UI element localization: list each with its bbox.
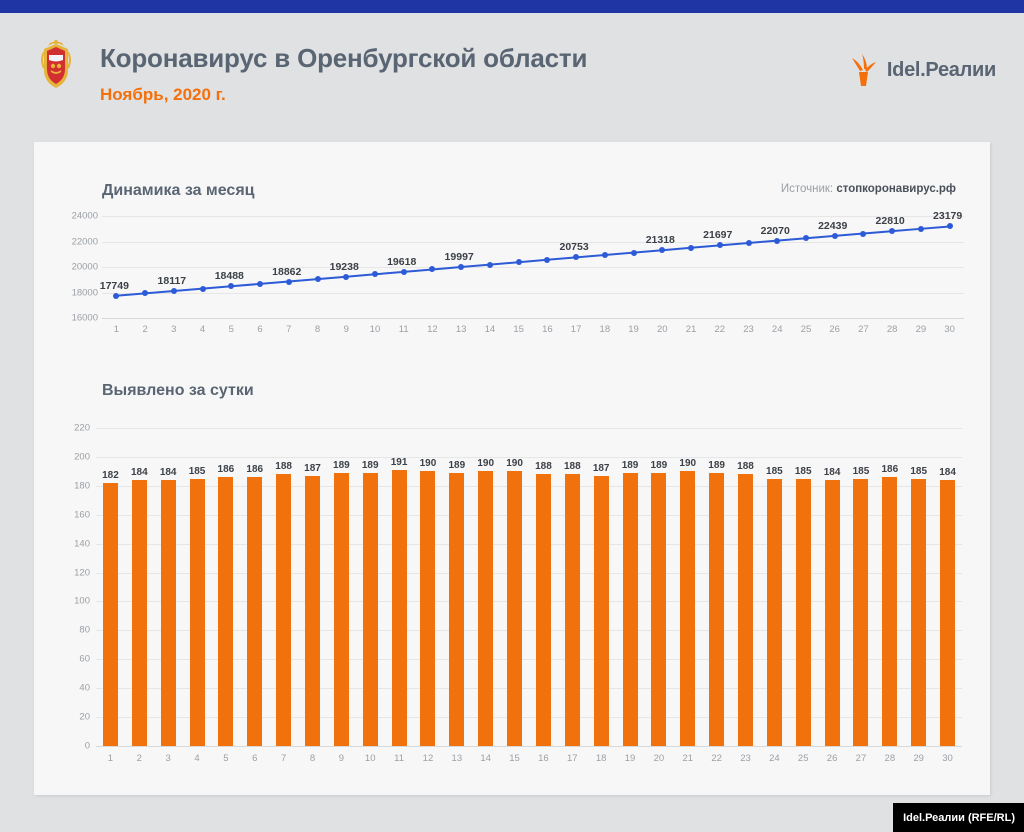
daily-cases-bar-chart: 0204060801001201401601802002201821184218… xyxy=(56,410,972,772)
bar-column xyxy=(190,479,205,746)
bar-y-tick: 180 xyxy=(56,480,90,491)
bar-value-label: 185 xyxy=(189,466,206,477)
infographic-page: Коронавирус в Оренбургской области Ноябр… xyxy=(0,0,1024,832)
bar-x-tick: 14 xyxy=(473,753,499,764)
bar-x-tick: 4 xyxy=(184,753,210,764)
bar-value-label: 185 xyxy=(910,466,927,477)
line-x-tick: 14 xyxy=(477,324,503,335)
bar-y-tick: 200 xyxy=(56,451,90,462)
bar-column xyxy=(363,473,378,746)
line-data-point xyxy=(257,281,263,287)
line-x-tick: 24 xyxy=(764,324,790,335)
bar-column xyxy=(449,473,464,746)
line-x-tick: 16 xyxy=(534,324,560,335)
source-note: Источник: стопкоронавирус.рф xyxy=(781,183,956,195)
bar-column xyxy=(767,479,782,746)
line-x-tick: 18 xyxy=(592,324,618,335)
bar-column xyxy=(594,476,609,746)
line-data-point xyxy=(343,274,349,280)
line-x-tick: 23 xyxy=(736,324,762,335)
line-data-point xyxy=(860,231,866,237)
watermark-badge: Idel.Реалии (RFE/RL) xyxy=(893,803,1024,832)
bar-value-label: 188 xyxy=(535,461,552,472)
bar-x-tick: 17 xyxy=(559,753,585,764)
line-x-tick: 27 xyxy=(850,324,876,335)
bar-value-label: 190 xyxy=(420,458,437,469)
bar-y-tick: 80 xyxy=(56,625,90,636)
bar-column xyxy=(478,471,493,746)
bar-x-tick: 23 xyxy=(733,753,759,764)
bar-x-tick: 28 xyxy=(877,753,903,764)
line-data-point xyxy=(458,264,464,270)
line-x-tick: 7 xyxy=(276,324,302,335)
bar-x-tick: 21 xyxy=(675,753,701,764)
bar-value-label: 184 xyxy=(131,467,148,478)
bar-column xyxy=(305,476,320,746)
bar-x-tick: 25 xyxy=(790,753,816,764)
line-data-point xyxy=(401,269,407,275)
bar-x-tick: 12 xyxy=(415,753,441,764)
bar-x-tick: 30 xyxy=(935,753,961,764)
bar-y-tick: 140 xyxy=(56,538,90,549)
bar-column xyxy=(738,474,753,746)
line-chart-title: Динамика за месяц xyxy=(102,182,255,200)
bar-column xyxy=(392,470,407,746)
line-x-tick: 8 xyxy=(305,324,331,335)
bar-x-tick: 26 xyxy=(819,753,845,764)
bar-value-label: 188 xyxy=(275,461,292,472)
bar-y-tick: 160 xyxy=(56,509,90,520)
line-data-point xyxy=(717,242,723,248)
bar-y-tick: 60 xyxy=(56,654,90,665)
charts-card: Динамика за месяц Источник: стопкоронави… xyxy=(34,142,990,795)
bar-value-label: 189 xyxy=(362,460,379,471)
bar-y-tick: 220 xyxy=(56,423,90,434)
line-data-point xyxy=(889,228,895,234)
line-point-label: 22439 xyxy=(818,220,847,232)
bar-value-label: 189 xyxy=(651,460,668,471)
bar-x-tick: 10 xyxy=(357,753,383,764)
bar-y-tick: 100 xyxy=(56,596,90,607)
bar-value-label: 187 xyxy=(304,463,321,474)
bar-column xyxy=(276,474,291,746)
bar-x-tick: 15 xyxy=(502,753,528,764)
bar-y-tick: 0 xyxy=(56,741,90,752)
bar-column xyxy=(103,483,118,746)
bar-x-tick: 29 xyxy=(906,753,932,764)
line-data-point xyxy=(228,283,234,289)
bar-x-tick: 2 xyxy=(126,753,152,764)
line-x-tick: 20 xyxy=(649,324,675,335)
line-x-tick: 13 xyxy=(448,324,474,335)
bar-value-label: 185 xyxy=(795,466,812,477)
source-value: стопкоронавирус.рф xyxy=(836,183,956,195)
bar-value-label: 184 xyxy=(160,467,177,478)
bar-x-tick: 16 xyxy=(530,753,556,764)
bar-value-label: 189 xyxy=(622,460,639,471)
line-point-label: 19618 xyxy=(387,256,416,268)
line-point-label: 18862 xyxy=(272,266,301,278)
bar-x-tick: 6 xyxy=(242,753,268,764)
bar-column xyxy=(247,477,262,746)
bar-x-tick: 18 xyxy=(588,753,614,764)
top-accent-strip xyxy=(0,0,1024,13)
orenburg-coat-of-arms-icon xyxy=(32,38,80,94)
page-header: Коронавирус в Оренбургской области Ноябр… xyxy=(0,13,1024,131)
line-x-tick: 28 xyxy=(879,324,905,335)
bar-x-tick: 11 xyxy=(386,753,412,764)
line-x-tick: 12 xyxy=(419,324,445,335)
line-data-point xyxy=(832,233,838,239)
line-x-tick: 26 xyxy=(822,324,848,335)
bar-y-tick: 20 xyxy=(56,712,90,723)
bar-y-tick: 120 xyxy=(56,567,90,578)
bar-x-axis xyxy=(96,746,962,747)
bar-value-label: 189 xyxy=(448,460,465,471)
line-x-tick: 9 xyxy=(333,324,359,335)
bar-value-label: 186 xyxy=(218,464,235,475)
bar-value-label: 185 xyxy=(853,466,870,477)
line-data-point xyxy=(659,247,665,253)
line-data-point xyxy=(918,226,924,232)
line-x-tick: 1 xyxy=(103,324,129,335)
line-data-point xyxy=(803,235,809,241)
bar-y-tick: 40 xyxy=(56,683,90,694)
bar-x-tick: 19 xyxy=(617,753,643,764)
line-point-label: 18117 xyxy=(158,275,187,287)
line-data-point xyxy=(631,250,637,256)
page-title: Коронавирус в Оренбургской области xyxy=(100,43,587,74)
bar-column xyxy=(796,479,811,746)
line-x-tick: 25 xyxy=(793,324,819,335)
line-data-point xyxy=(429,266,435,272)
bar-value-label: 185 xyxy=(766,466,783,477)
bar-x-tick: 5 xyxy=(213,753,239,764)
line-point-label: 19997 xyxy=(445,251,474,263)
line-x-tick: 5 xyxy=(218,324,244,335)
line-point-label: 18488 xyxy=(215,270,244,282)
bar-x-tick: 7 xyxy=(271,753,297,764)
bar-column xyxy=(680,471,695,746)
line-x-tick: 19 xyxy=(621,324,647,335)
bar-x-tick: 20 xyxy=(646,753,672,764)
bar-gridline xyxy=(96,457,962,458)
bar-value-label: 188 xyxy=(564,461,581,472)
bar-value-label: 188 xyxy=(737,461,754,472)
bar-value-label: 187 xyxy=(593,463,610,474)
line-data-point xyxy=(372,271,378,277)
bar-column xyxy=(940,480,955,746)
bar-x-tick: 13 xyxy=(444,753,470,764)
line-data-point xyxy=(113,293,119,299)
line-data-point xyxy=(200,286,206,292)
bar-column xyxy=(218,477,233,746)
line-data-point xyxy=(487,262,493,268)
bar-value-label: 190 xyxy=(679,458,696,469)
line-data-point xyxy=(142,290,148,296)
line-x-tick: 29 xyxy=(908,324,934,335)
line-point-label: 20753 xyxy=(559,241,588,253)
bar-value-label: 182 xyxy=(102,470,119,481)
bar-column xyxy=(709,473,724,746)
bar-column xyxy=(132,480,147,746)
bar-x-tick: 27 xyxy=(848,753,874,764)
bar-column xyxy=(911,479,926,746)
bar-value-label: 190 xyxy=(506,458,523,469)
bar-chart-title: Выявлено за сутки xyxy=(102,382,254,400)
bar-value-label: 191 xyxy=(391,457,408,468)
line-data-point xyxy=(573,254,579,260)
bar-value-label: 189 xyxy=(708,460,725,471)
line-data-point xyxy=(947,223,953,229)
bar-x-tick: 8 xyxy=(300,753,326,764)
line-data-point xyxy=(516,259,522,265)
line-data-point xyxy=(286,279,292,285)
line-x-tick: 30 xyxy=(937,324,963,335)
line-x-tick: 4 xyxy=(190,324,216,335)
bar-x-tick: 1 xyxy=(97,753,123,764)
bar-x-tick: 9 xyxy=(328,753,354,764)
bar-column xyxy=(420,471,435,746)
watermark-text: Idel.Реалии (RFE/RL) xyxy=(903,812,1015,824)
line-x-tick: 3 xyxy=(161,324,187,335)
brand-logo: Idel.Реалии xyxy=(848,53,996,87)
line-data-point xyxy=(171,288,177,294)
bar-gridline xyxy=(96,428,962,429)
brand-name: Idel.Реалии xyxy=(887,59,996,82)
bar-column xyxy=(565,474,580,746)
page-subtitle: Ноябрь, 2020 г. xyxy=(100,85,226,105)
bar-column xyxy=(536,474,551,746)
line-point-label: 23179 xyxy=(933,210,962,222)
bar-x-tick: 24 xyxy=(761,753,787,764)
line-point-label: 22810 xyxy=(876,215,905,227)
line-data-point xyxy=(774,238,780,244)
line-data-point xyxy=(315,276,321,282)
line-point-label: 19238 xyxy=(330,261,359,273)
bar-value-label: 189 xyxy=(333,460,350,471)
bar-column xyxy=(651,473,666,746)
monthly-dynamics-line-chart: 1600018000200002200024000123456789101112… xyxy=(56,212,972,342)
line-data-point xyxy=(602,252,608,258)
bar-value-label: 186 xyxy=(881,464,898,475)
bar-value-label: 190 xyxy=(477,458,494,469)
source-label: Источник: xyxy=(781,183,833,195)
bar-value-label: 186 xyxy=(246,464,263,475)
line-x-tick: 21 xyxy=(678,324,704,335)
bar-value-label: 184 xyxy=(824,467,841,478)
line-point-label: 21697 xyxy=(703,229,732,241)
line-x-tick: 17 xyxy=(563,324,589,335)
line-point-label: 21318 xyxy=(646,234,675,246)
line-data-point xyxy=(544,257,550,263)
bar-column xyxy=(853,479,868,746)
idel-realii-torch-icon xyxy=(848,53,878,87)
bar-x-tick: 22 xyxy=(704,753,730,764)
line-x-tick: 2 xyxy=(132,324,158,335)
bar-value-label: 184 xyxy=(939,467,956,478)
bar-column xyxy=(882,477,897,746)
line-x-tick: 11 xyxy=(391,324,417,335)
bar-x-tick: 3 xyxy=(155,753,181,764)
line-x-tick: 15 xyxy=(506,324,532,335)
bar-column xyxy=(825,480,840,746)
line-data-point xyxy=(688,245,694,251)
bar-column xyxy=(507,471,522,746)
bar-column xyxy=(161,480,176,746)
line-x-tick: 22 xyxy=(707,324,733,335)
line-point-label: 22070 xyxy=(761,225,790,237)
line-point-label: 17749 xyxy=(100,280,129,292)
bar-column xyxy=(334,473,349,746)
line-x-tick: 6 xyxy=(247,324,273,335)
line-x-tick: 10 xyxy=(362,324,388,335)
line-data-point xyxy=(746,240,752,246)
bar-column xyxy=(623,473,638,746)
